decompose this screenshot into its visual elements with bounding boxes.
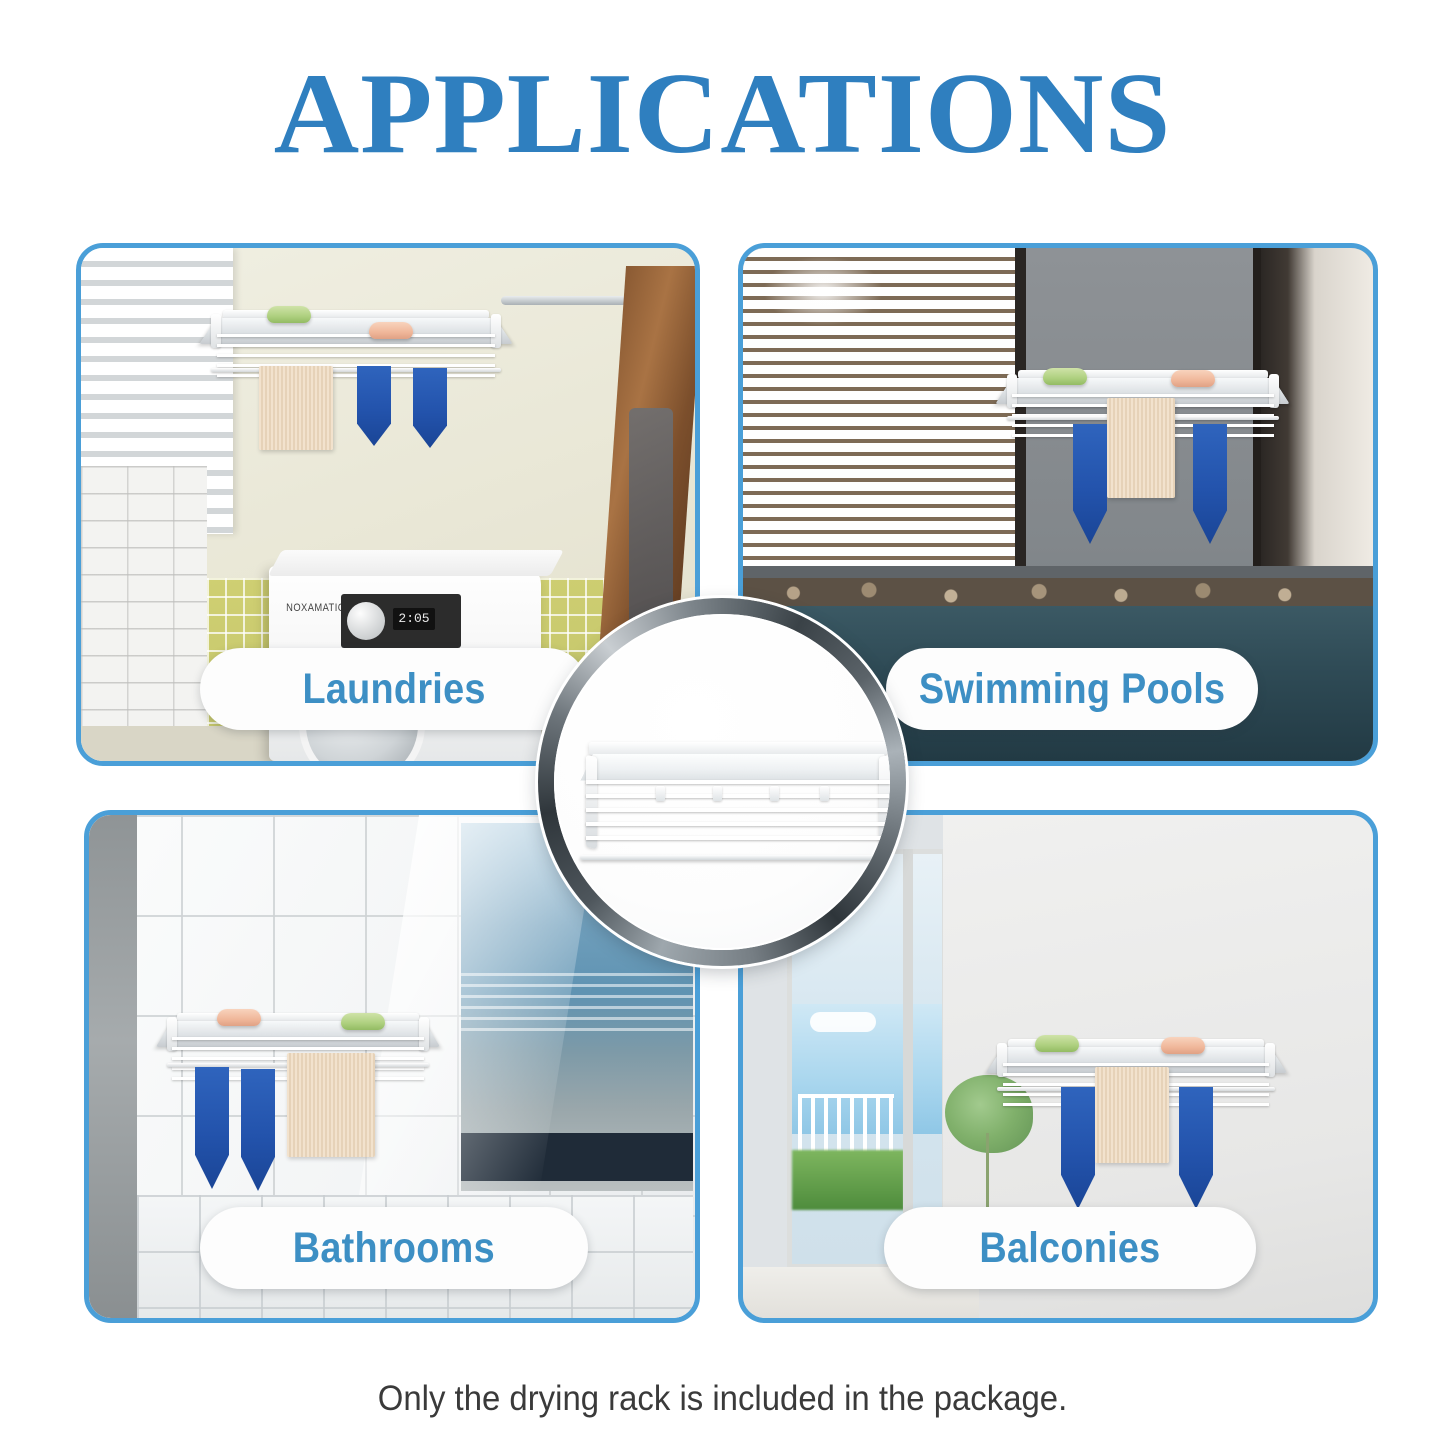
label-pill-laundries[interactable]: Laundries [200,648,588,730]
hero-rack-clip-2 [713,786,722,801]
green-slippers [1035,1035,1079,1052]
package-disclaimer: Only the drying rack is included in the … [43,1379,1401,1419]
hero-rack-clip-3 [770,786,779,801]
rack-front-bar [211,368,501,372]
drying-rack [211,310,501,372]
white-brick-wall [81,466,207,761]
window-with-blinds [743,248,1026,589]
hero-drying-rack [580,742,890,860]
green-slippers [267,306,311,323]
beige-towel [259,366,333,450]
pink-slippers [217,1009,261,1026]
label-pill-swimming-pools[interactable]: Swimming Pools [886,648,1258,730]
label-pill-bathrooms[interactable]: Bathrooms [200,1207,588,1289]
beige-towel [1095,1067,1169,1163]
hero-rack-bars [586,780,889,850]
washer-brand-label: NOXAMATIC [286,602,345,614]
pink-slippers [369,322,413,339]
pink-slippers [1171,370,1215,387]
cloud [810,1012,876,1032]
label-text-laundries: Laundries [302,665,485,714]
center-product-inset[interactable] [538,598,906,966]
hero-rack-front-bar [580,855,890,860]
pink-slippers [1161,1037,1205,1054]
beige-towel [1107,398,1175,498]
hero-rack-clip-1 [656,786,665,801]
potted-plant-stem [986,1133,989,1215]
washer-knob [347,602,385,640]
stone-column [89,815,137,1318]
washer-control-panel: 2:05 [341,594,461,648]
green-slippers [341,1013,385,1030]
green-slippers [1043,368,1087,385]
washer-top-panel [268,550,564,576]
hero-rack-clip-4 [820,786,829,801]
hero-rack-tray [580,754,890,781]
beige-towel [287,1053,375,1157]
page-title: APPLICATIONS [0,54,1445,176]
label-text-bathrooms: Bathrooms [293,1224,495,1273]
outdoor-greenery [792,1150,904,1210]
window-glare [763,256,883,326]
label-text-balconies: Balconies [979,1224,1160,1273]
product-photo-area [554,614,890,950]
label-text-swimming-pools: Swimming Pools [919,665,1225,714]
towel-rod [501,296,627,305]
label-pill-balconies[interactable]: Balconies [884,1207,1256,1289]
washer-display: 2:05 [393,608,435,630]
